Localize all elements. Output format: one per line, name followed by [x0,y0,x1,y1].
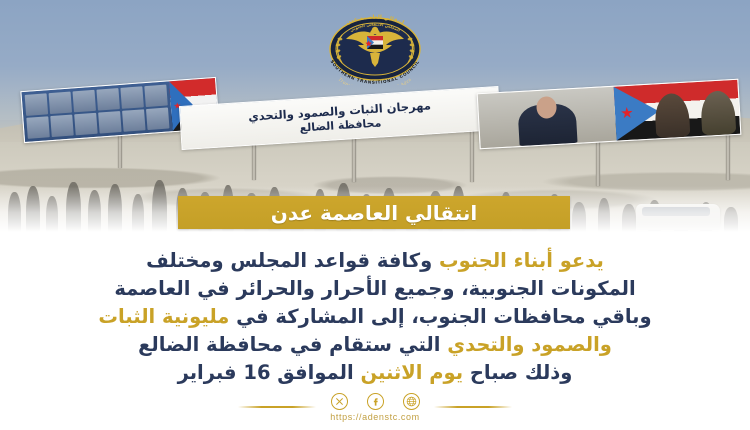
headline-bar: انتقالي العاصمة عدن [178,196,570,229]
announcement-text-gold: والصمود والتحدي [447,333,612,356]
footer-center: https://adenstc.com [330,393,419,422]
announcement-line: يدعو أبناء الجنوب وكافة قواعد المجلس ومخ… [146,248,604,273]
footer-divider-left [434,406,512,408]
social-icons [331,393,420,410]
announcement-text-navy: الموافق 16 فبراير [178,361,361,384]
announcement-text-gold: مليونية الثبات [98,305,229,328]
facebook-icon[interactable] [367,393,384,410]
portrait-grid [21,81,172,142]
southern-transitional-council-emblem-icon: انتقالي العاصمة عدن SOUTHERN TRANSITIONA… [312,5,438,85]
announcement-line: والصمود والتحدي التي ستقام في محافظة الض… [138,332,612,357]
announcement-line: وباقي محافظات الجنوب، إلى المشاركة في مل… [98,304,651,329]
south-yemen-flag [613,80,740,141]
announcement-text-navy: المكونات الجنوبية، وجميع الأحرار والحرائ… [114,277,635,300]
announcement-line: وذلك صباح يوم الاثنين الموافق 16 فبراير [178,360,573,385]
twitter-x-icon[interactable] [331,393,348,410]
globe-icon[interactable] [403,393,420,410]
footer-divider-right [238,406,316,408]
page-title: انتقالي العاصمة عدن [271,201,477,225]
leader-portrait [700,90,736,136]
announcement-text-gold: يدعو أبناء الجنوب [439,249,604,272]
leader-portrait [654,93,690,139]
announcement-text-gold: يوم الاثنين [360,361,463,384]
announcement-body: يدعو أبناء الجنوب وكافة قواعد المجلس ومخ… [34,248,716,388]
announcement-text-navy: التي ستقام في محافظة الضالع [138,333,447,356]
announcement-line: المكونات الجنوبية، وجميع الأحرار والحرائ… [114,276,635,301]
announcement-text-navy: وذلك صباح [463,361,572,384]
announcement-text-navy: وباقي محافظات الجنوب، إلى المشاركة في [229,305,651,328]
announcement-text-navy: وكافة قواعد المجلس ومختلف [146,249,439,272]
poster-canvas: مهرجان الثبات والصمود والتحدي محافظة الض… [0,0,750,430]
website-url[interactable]: https://adenstc.com [330,412,419,422]
footer: https://adenstc.com [0,390,750,424]
